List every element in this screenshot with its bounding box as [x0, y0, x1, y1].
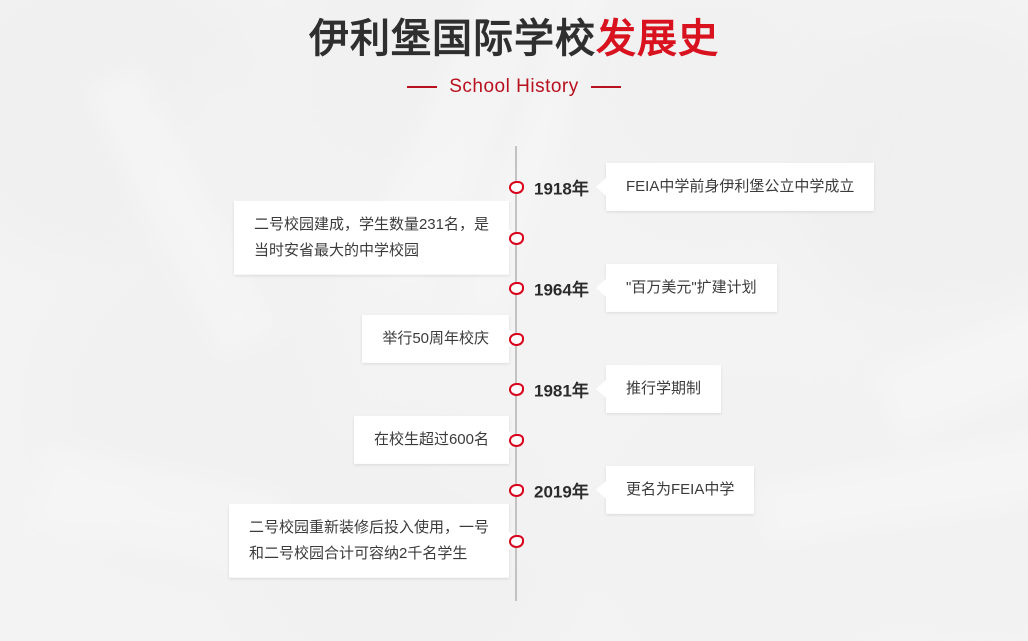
- timeline-marker-icon: [509, 535, 524, 548]
- timeline-year-label: 1918年: [534, 175, 589, 200]
- page-title-main: 伊利堡国际学校: [309, 17, 596, 61]
- timeline-year-label: 2019年: [534, 478, 589, 503]
- timeline-event-text-line: 在校生超过600名: [374, 426, 489, 452]
- timeline-event-text-line: 推行学期制: [626, 376, 701, 402]
- timeline-event-text-line: 二号校园重新装修后投入使用，一号: [249, 514, 489, 540]
- timeline-year-label: 1964年: [534, 276, 589, 301]
- subtitle-dash-left-icon: [407, 86, 437, 88]
- timeline: 1918年FEIA中学前身伊利堡公立中学成立1928年二号校园建成，学生数量23…: [0, 140, 1028, 610]
- timeline-event-card[interactable]: 举行50周年校庆: [362, 314, 509, 362]
- timeline-event-text-line: 当时安省最大的中学校园: [254, 238, 489, 264]
- timeline-event-text-line: "百万美元"扩建计划: [626, 275, 757, 301]
- timeline-event-card[interactable]: 二号校园建成，学生数量231名，是当时安省最大的中学校园: [234, 200, 509, 275]
- timeline-marker-icon: [509, 232, 524, 245]
- timeline-marker-icon: [509, 484, 524, 497]
- page-subtitle: School History: [449, 76, 579, 98]
- timeline-marker-icon: [509, 383, 524, 396]
- timeline-marker-icon: [509, 181, 524, 194]
- page-title: 伊利堡国际学校发展史: [0, 14, 1028, 64]
- timeline-event-card[interactable]: 在校生超过600名: [354, 415, 509, 463]
- subtitle-dash-right-icon: [591, 86, 621, 88]
- subtitle-row: School History: [0, 76, 1028, 98]
- timeline-event-card[interactable]: 推行学期制: [606, 365, 721, 413]
- page-header: 伊利堡国际学校发展史 School History: [0, 0, 1028, 98]
- timeline-marker-icon: [509, 282, 524, 295]
- timeline-event-text-line: 和二号校园合计可容纳2千名学生: [249, 541, 489, 567]
- timeline-event-card[interactable]: "百万美元"扩建计划: [606, 264, 777, 312]
- timeline-event-card[interactable]: 二号校园重新装修后投入使用，一号和二号校园合计可容纳2千名学生: [229, 503, 509, 578]
- timeline-event-text-line: 举行50周年校庆: [382, 325, 489, 351]
- timeline-event-card[interactable]: FEIA中学前身伊利堡公立中学成立: [606, 163, 874, 211]
- timeline-event-text-line: 更名为FEIA中学: [626, 477, 734, 503]
- page-title-accent: 发展史: [596, 17, 719, 61]
- timeline-event-text-line: FEIA中学前身伊利堡公立中学成立: [626, 174, 854, 200]
- timeline-marker-icon: [509, 333, 524, 346]
- timeline-event-text-line: 二号校园建成，学生数量231名，是: [254, 211, 489, 237]
- timeline-marker-icon: [509, 434, 524, 447]
- timeline-event-card[interactable]: 更名为FEIA中学: [606, 466, 754, 514]
- timeline-year-label: 1981年: [534, 377, 589, 402]
